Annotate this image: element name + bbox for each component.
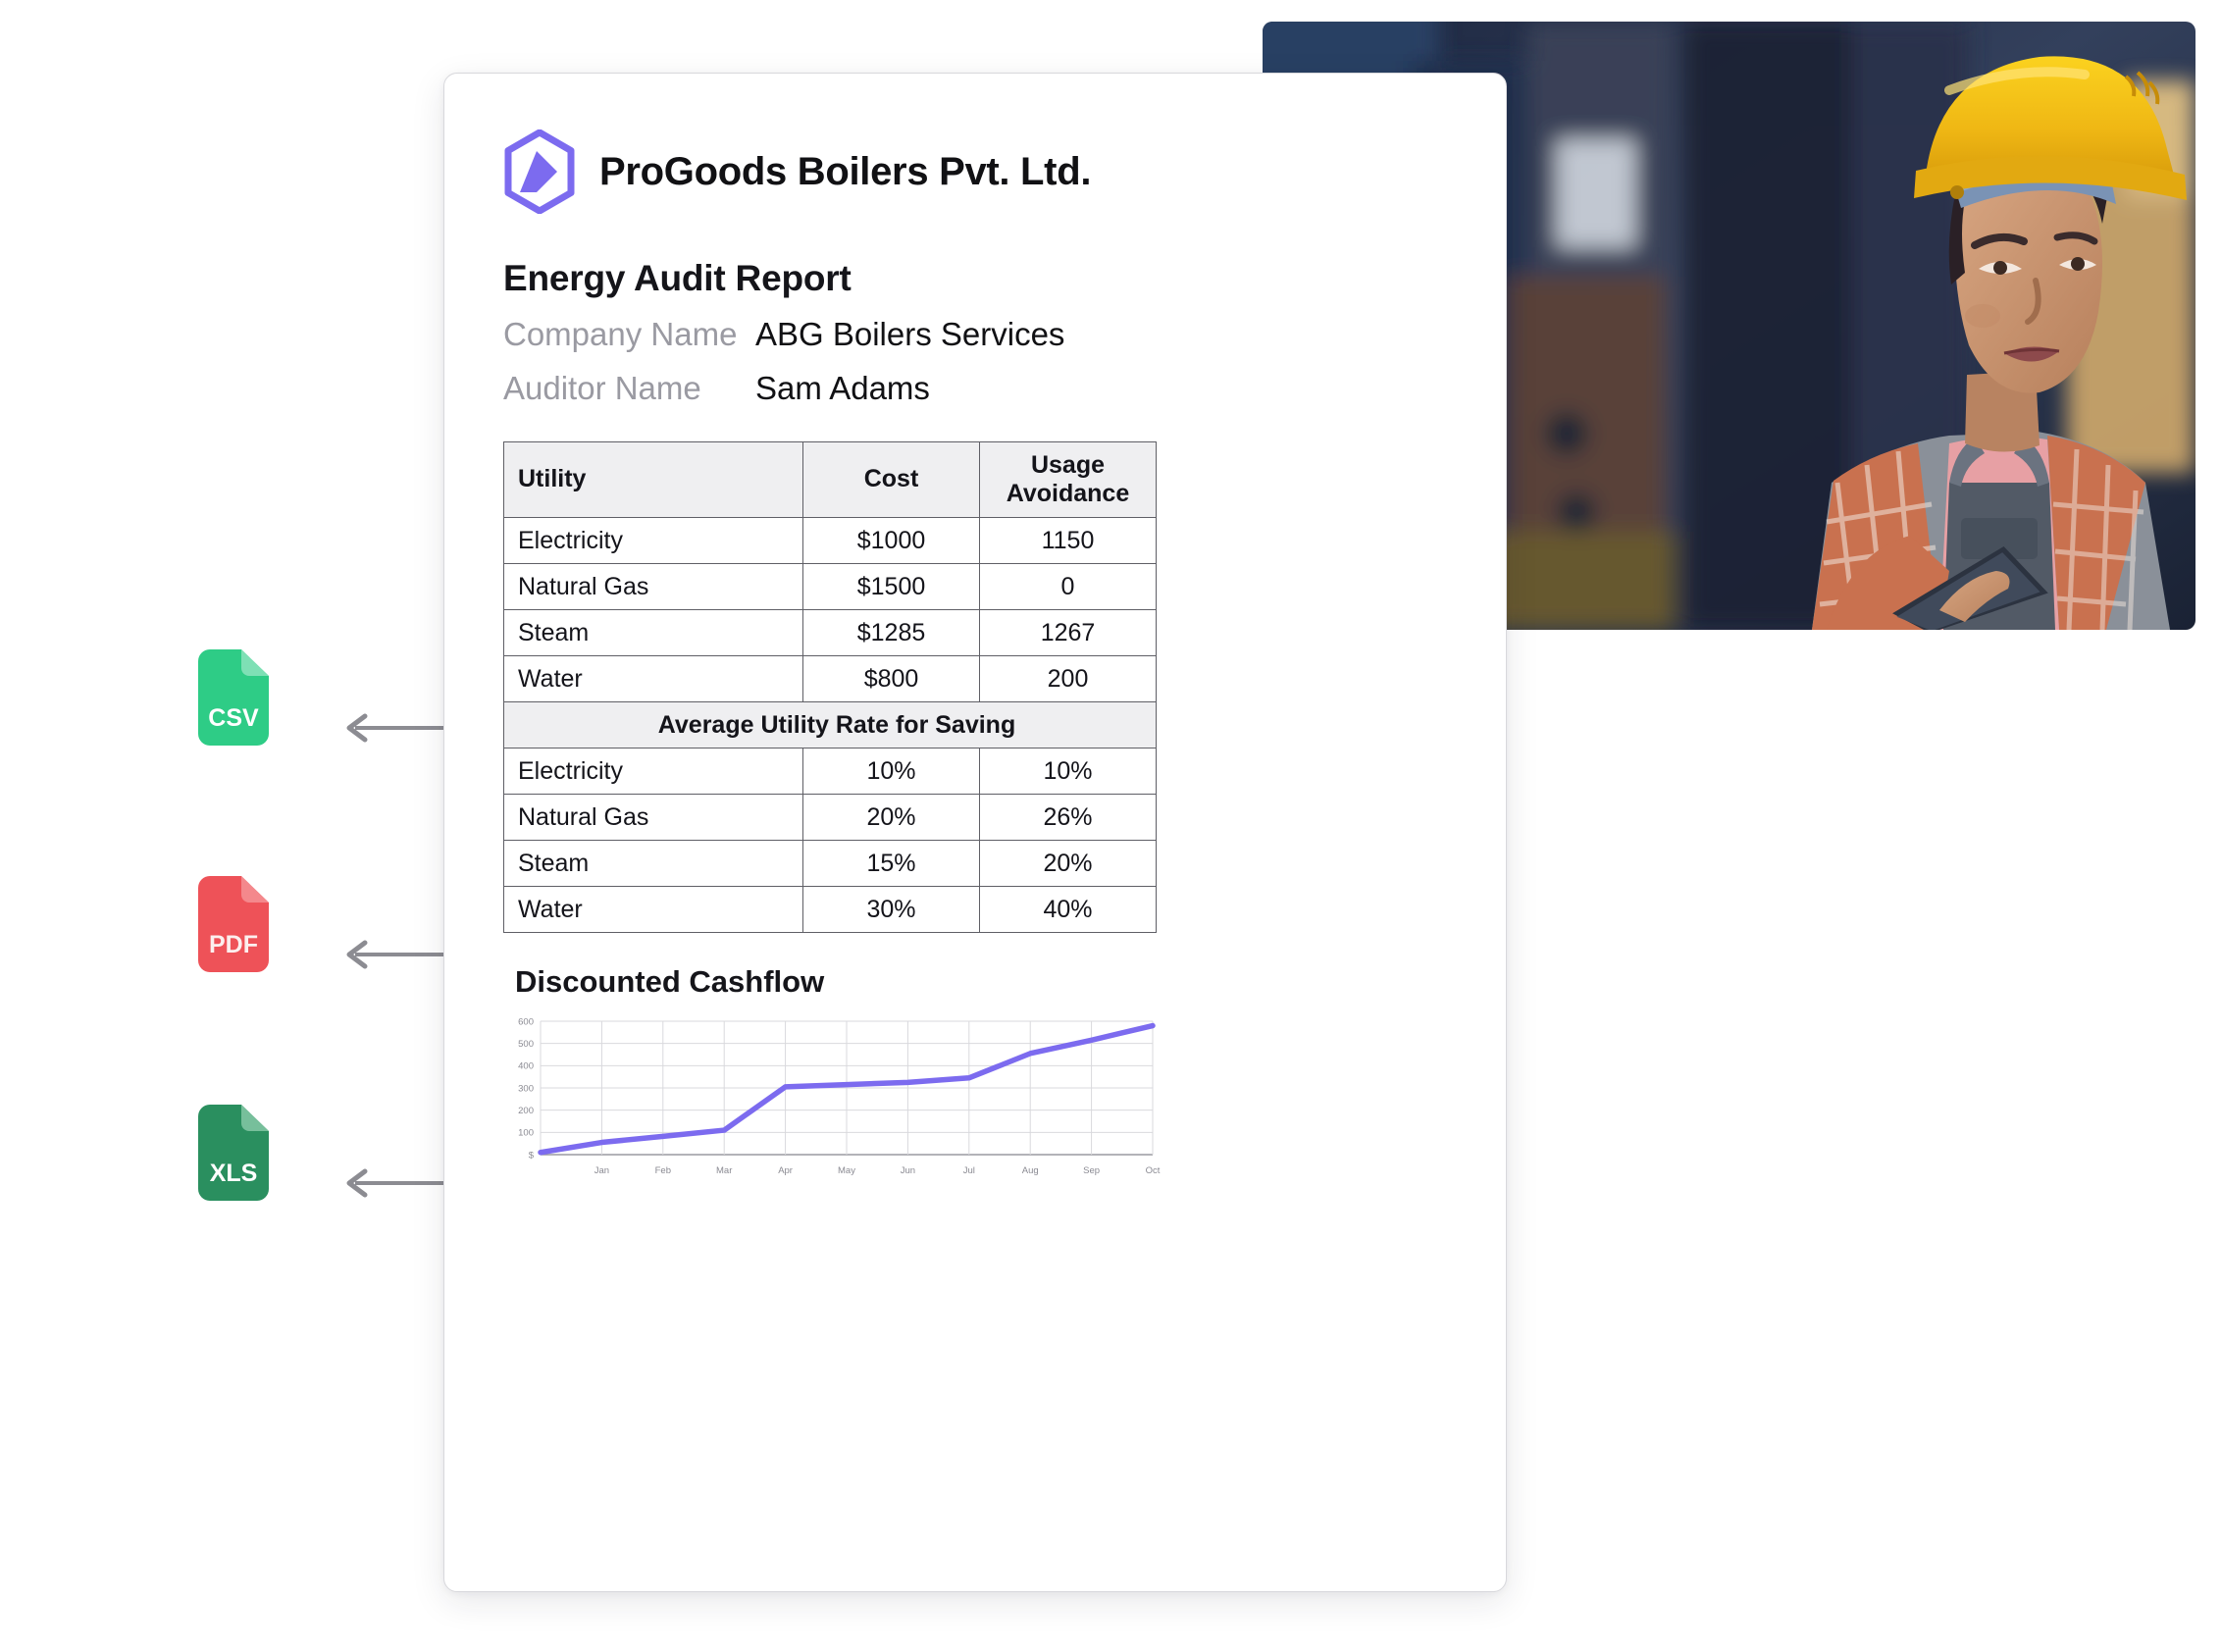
pdf-label: PDF (209, 931, 258, 958)
cell-utility: Electricity (504, 749, 803, 795)
usage-header-line2: Avoidance (980, 480, 1156, 509)
discounted-cashflow-chart: 600500400300200100$JanFebMarAprMayJunJul… (503, 1015, 1161, 1182)
cell-utility: Electricity (504, 518, 803, 564)
arrow-left-icon (337, 711, 445, 745)
table-row: Steam $1285 1267 (504, 610, 1157, 656)
table-row: Natural Gas 20% 26% (504, 795, 1157, 841)
export-file-icon-csv[interactable]: CSV (190, 649, 269, 746)
y-axis-tick-label: $ (529, 1150, 535, 1161)
brand-header: ProGoods Boilers Pvt. Ltd. (503, 127, 1447, 217)
energy-audit-report-card: ProGoods Boilers Pvt. Ltd. Energy Audit … (443, 73, 1507, 1592)
usage-header-line1: Usage (980, 451, 1156, 481)
cell-cost: $1000 (803, 518, 980, 564)
x-axis-tick-label: Mar (716, 1165, 732, 1176)
cashflow-line-chart: 600500400300200100$JanFebMarAprMayJunJul… (503, 1015, 1161, 1182)
meta-row-auditor: Auditor Name Sam Adams (503, 370, 1447, 407)
cell-utility: Water (504, 656, 803, 702)
arrow-left-icon (337, 1166, 445, 1200)
pdf-file-icon: PDF (190, 876, 269, 972)
cell-cost: 15% (803, 841, 980, 887)
cell-usage: 1150 (980, 518, 1157, 564)
cell-cost: $800 (803, 656, 980, 702)
x-axis-tick-label: Sep (1083, 1165, 1100, 1176)
cell-utility: Steam (504, 610, 803, 656)
table-row: Electricity 10% 10% (504, 749, 1157, 795)
cell-cost: $1500 (803, 564, 980, 610)
y-axis-tick-label: 300 (518, 1083, 534, 1094)
table-row: Water $800 200 (504, 656, 1157, 702)
section-label-average-utility-rate: Average Utility Rate for Saving (504, 702, 1157, 749)
cell-usage: 40% (980, 887, 1157, 933)
y-axis-tick-label: 500 (518, 1039, 534, 1050)
column-header-cost: Cost (803, 442, 980, 518)
company-name-value: ABG Boilers Services (755, 316, 1064, 353)
export-arrow-xls (337, 1166, 445, 1200)
meta-row-company: Company Name ABG Boilers Services (503, 316, 1447, 353)
xls-label: XLS (210, 1160, 258, 1187)
x-axis-tick-label: Aug (1022, 1165, 1039, 1176)
page-title: Energy Audit Report (503, 258, 1447, 299)
utility-table: Utility Cost Usage Avoidance Electricity… (503, 441, 1157, 933)
x-axis-tick-label: Jun (901, 1165, 915, 1176)
x-axis-tick-label: Jan (594, 1165, 609, 1176)
x-axis-tick-label: Feb (655, 1165, 671, 1176)
table-body: Electricity $1000 1150 Natural Gas $1500… (504, 518, 1157, 933)
cell-usage: 200 (980, 656, 1157, 702)
table-row: Water 30% 40% (504, 887, 1157, 933)
cell-usage: 26% (980, 795, 1157, 841)
table-header-row: Utility Cost Usage Avoidance (504, 442, 1157, 518)
y-axis-tick-label: 100 (518, 1128, 534, 1139)
table-row: Electricity $1000 1150 (504, 518, 1157, 564)
cell-usage: 0 (980, 564, 1157, 610)
brand-name: ProGoods Boilers Pvt. Ltd. (599, 150, 1091, 194)
cell-cost: 10% (803, 749, 980, 795)
column-header-usage-avoidance: Usage Avoidance (980, 442, 1157, 518)
x-axis-tick-label: Jul (963, 1165, 975, 1176)
cell-utility: Steam (504, 841, 803, 887)
csv-file-icon: CSV (190, 649, 269, 746)
auditor-name-label: Auditor Name (503, 370, 755, 407)
cell-usage: 1267 (980, 610, 1157, 656)
export-file-icon-xls[interactable]: XLS (190, 1105, 269, 1201)
export-arrow-pdf (337, 938, 445, 971)
table-section-header-row: Average Utility Rate for Saving (504, 702, 1157, 749)
cell-usage: 20% (980, 841, 1157, 887)
column-header-utility: Utility (504, 442, 803, 518)
table-row: Natural Gas $1500 0 (504, 564, 1157, 610)
x-axis-tick-label: Oct (1146, 1165, 1161, 1176)
csv-label: CSV (208, 704, 259, 732)
x-axis-tick-label: May (838, 1165, 855, 1176)
x-axis-tick-label: Apr (778, 1165, 793, 1176)
y-axis-tick-label: 600 (518, 1016, 534, 1027)
table-header: Utility Cost Usage Avoidance (504, 442, 1157, 518)
export-arrow-csv (337, 711, 445, 745)
export-file-icon-pdf[interactable]: PDF (190, 876, 269, 972)
cell-usage: 10% (980, 749, 1157, 795)
cell-utility: Natural Gas (504, 564, 803, 610)
cell-cost: $1285 (803, 610, 980, 656)
table-row: Steam 15% 20% (504, 841, 1157, 887)
y-axis-tick-label: 200 (518, 1106, 534, 1116)
cell-cost: 30% (803, 887, 980, 933)
chart-title: Discounted Cashflow (515, 964, 1447, 1000)
cell-utility: Natural Gas (504, 795, 803, 841)
company-name-label: Company Name (503, 316, 755, 353)
cell-cost: 20% (803, 795, 980, 841)
hexagon-logo-icon (503, 129, 576, 214)
y-axis-tick-label: 400 (518, 1061, 534, 1072)
cell-utility: Water (504, 887, 803, 933)
xls-file-icon: XLS (190, 1105, 269, 1201)
arrow-left-icon (337, 938, 445, 971)
auditor-name-value: Sam Adams (755, 370, 930, 407)
